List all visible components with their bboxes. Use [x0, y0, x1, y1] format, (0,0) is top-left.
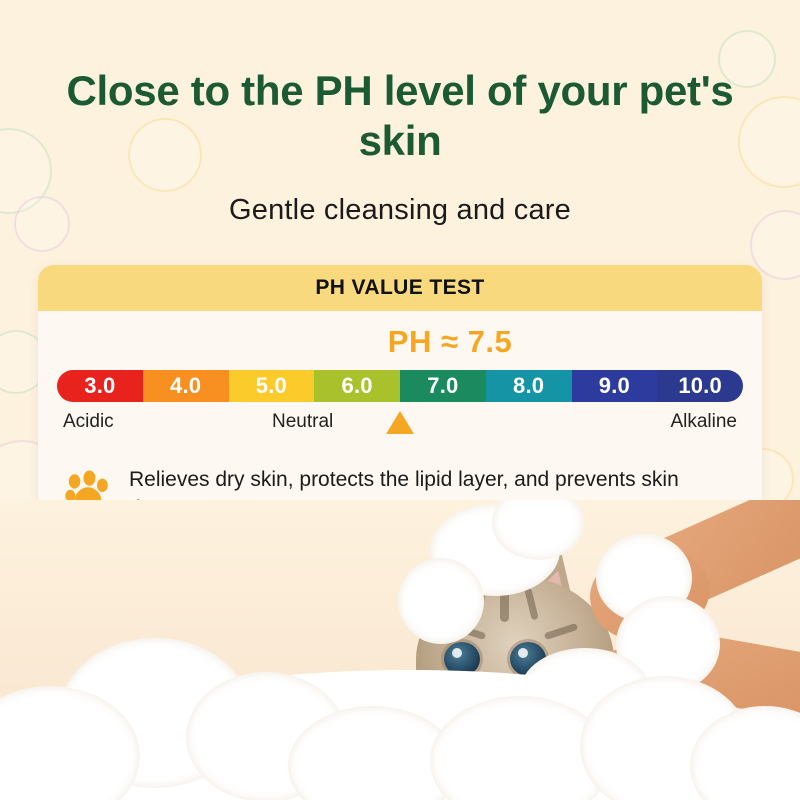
- ph-scale-segment-3.0: 3.0: [57, 370, 143, 402]
- page-title: Close to the PH level of your pet's skin: [0, 66, 800, 166]
- scale-label-alkaline: Alkaline: [670, 411, 737, 433]
- ph-scale-bar: 3.04.05.06.07.08.09.010.0: [57, 370, 743, 402]
- scale-label-acidic: Acidic: [63, 411, 114, 433]
- ph-scale-segment-8.0: 8.0: [486, 370, 572, 402]
- card-header: PH VALUE TEST: [38, 265, 762, 311]
- page-subtitle: Gentle cleansing and care: [0, 194, 800, 227]
- ph-scale-segment-9.0: 9.0: [572, 370, 658, 402]
- promo-page: Close to the PH level of your pet's skin…: [0, 0, 800, 800]
- ph-scale-segment-5.0: 5.0: [229, 370, 315, 402]
- foam-blob: [398, 558, 484, 644]
- ph-scale-segment-6.0: 6.0: [314, 370, 400, 402]
- cat-being-washed-photo: [0, 500, 800, 800]
- ph-scale-segment-4.0: 4.0: [143, 370, 229, 402]
- card-body: PH ≈ 7.5 3.04.05.06.07.08.09.010.0 Acidi…: [38, 324, 762, 523]
- ph-scale-segment-10.0: 10.0: [657, 370, 743, 402]
- ph-scale-labels: Acidic Neutral Alkaline: [57, 409, 743, 443]
- card-header-title: PH VALUE TEST: [315, 276, 484, 300]
- scale-label-neutral: Neutral: [272, 411, 333, 433]
- ph-scale-segment-7.0: 7.0: [400, 370, 486, 402]
- ph-readout-value: PH ≈ 7.5: [157, 324, 743, 360]
- triangle-up-marker-icon: [386, 411, 414, 434]
